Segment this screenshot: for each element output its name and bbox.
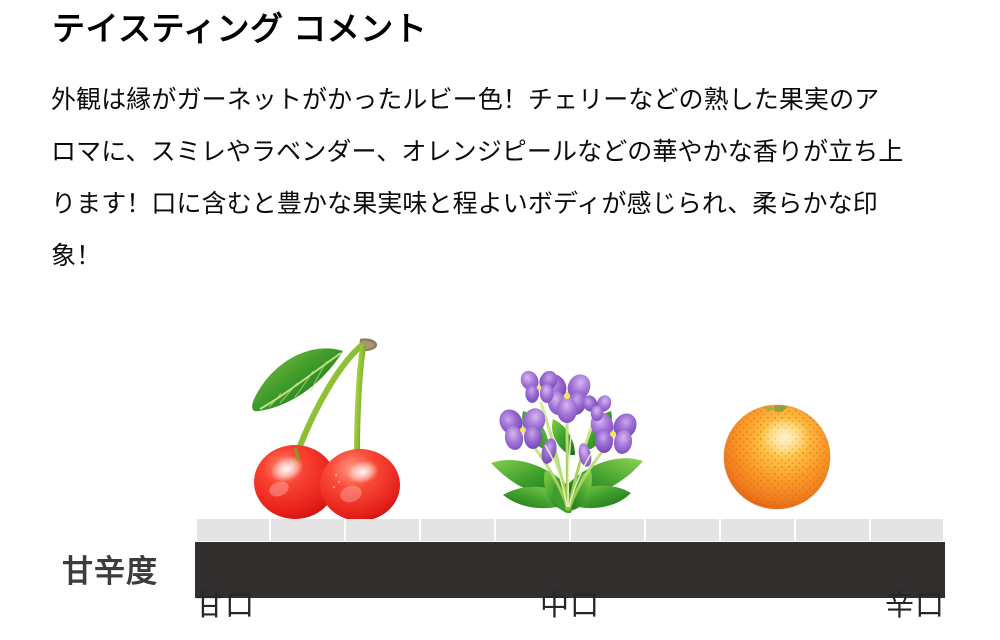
violet-illustration <box>479 359 655 519</box>
orange-illustration <box>717 395 837 513</box>
page-title: テイスティング コメント <box>52 8 427 49</box>
sweetness-tick <box>494 519 496 541</box>
sweetness-tick <box>794 519 796 541</box>
sweetness-track <box>195 519 945 579</box>
sweetness-legend: 甘口 中口 辛口 <box>195 582 945 632</box>
sweetness-tick <box>719 519 721 541</box>
sweetness-tick <box>943 519 945 541</box>
sweetness-legend-medium: 中口 <box>540 582 600 624</box>
sweetness-axis-label: 甘辛度 <box>62 546 158 591</box>
sweetness-tick <box>195 519 197 541</box>
sweetness-legend-sweet: 甘口 <box>195 582 255 624</box>
tasting-comment-line-4: 象！ <box>51 230 957 282</box>
sweetness-tick <box>869 519 871 541</box>
tasting-comment-text: 外観は縁がガーネットがかったルビー色！チェリーなどの熟した果実のア ロマに、スミ… <box>51 74 957 282</box>
sweetness-tick <box>344 519 346 541</box>
violet-icon <box>479 359 655 519</box>
sweetness-scale: 甘辛度 甘口 中口 辛口 <box>0 519 1000 640</box>
sweetness-tick <box>569 519 571 541</box>
orange-icon <box>717 395 837 513</box>
sweetness-tick <box>269 519 271 541</box>
tasting-comment-line-3: ります！口に含むと豊かな果実味と程よいボディが感じられ、柔らかな印 <box>51 178 957 230</box>
sweetness-tick-band <box>195 519 945 541</box>
tasting-comment-line-1: 外観は縁がガーネットがかったルビー色！チェリーなどの熟した果実のア <box>51 74 957 126</box>
aroma-illustration-strip <box>195 320 945 525</box>
tasting-comment-line-2: ロマに、スミレやラベンダー、オレンジピールなどの華やかな香りが立ち上 <box>51 126 957 178</box>
cherry-illustration <box>235 329 425 519</box>
cherry-icon <box>235 329 425 519</box>
sweetness-tick <box>419 519 421 541</box>
sweetness-tick <box>644 519 646 541</box>
sweetness-legend-dry: 辛口 <box>885 582 945 624</box>
